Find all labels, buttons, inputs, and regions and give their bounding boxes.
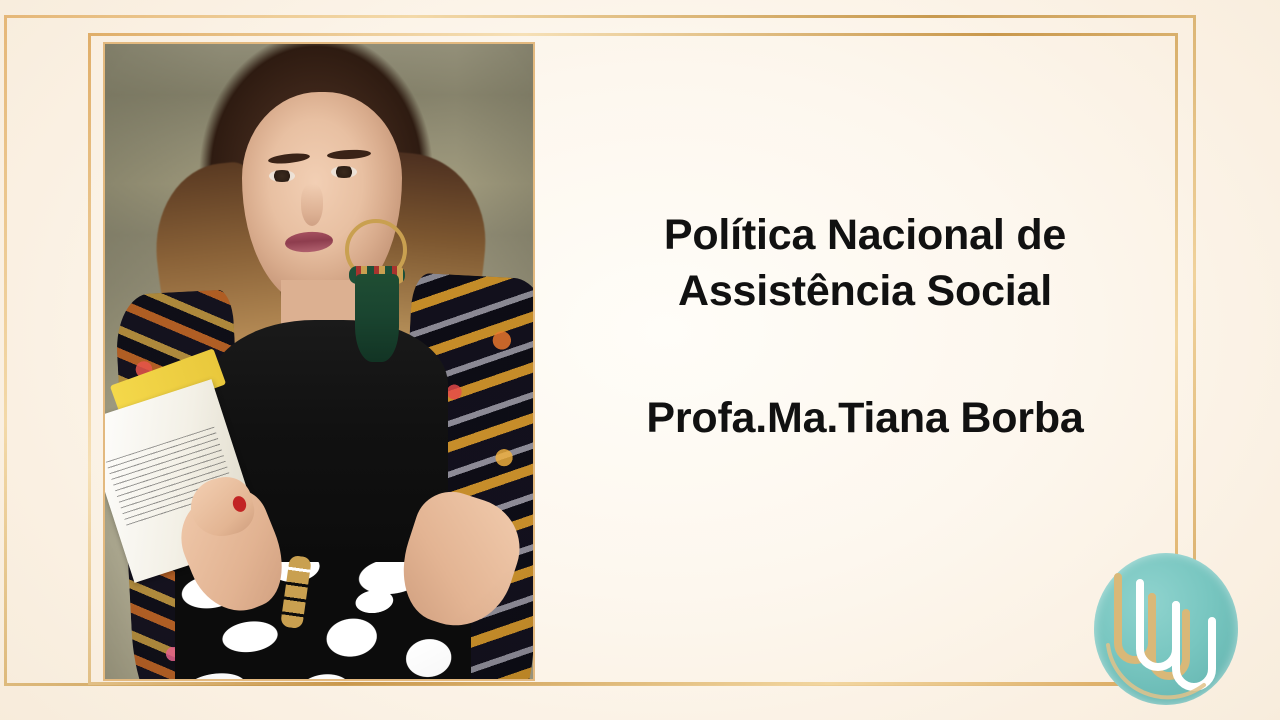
earring-tassel <box>355 274 399 362</box>
eye-left <box>269 170 295 182</box>
title-line-1: Política Nacional de <box>555 208 1175 264</box>
logo-monogram-icon <box>1094 553 1238 705</box>
author-subtitle: Profa.Ma.Tiana Borba <box>555 392 1175 446</box>
page-title: Política Nacional de Assistência Social <box>555 208 1175 320</box>
slide-text-block: Política Nacional de Assistência Social … <box>555 208 1175 446</box>
eye-right <box>331 166 357 178</box>
monogram-logo <box>1094 553 1238 705</box>
portrait-photo-content <box>105 44 533 679</box>
nose <box>301 184 323 226</box>
title-line-2: Assistência Social <box>555 264 1175 320</box>
portrait-photo <box>103 42 535 681</box>
